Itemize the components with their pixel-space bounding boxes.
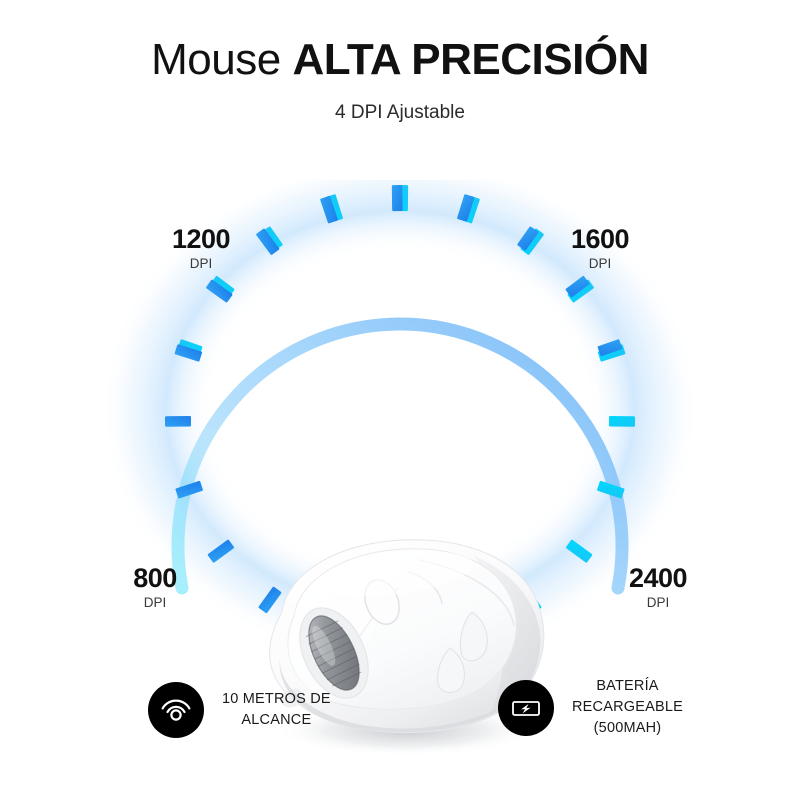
feature-line: (500MAH) [572, 718, 683, 739]
feature-line: RECARGEABLE [572, 697, 683, 718]
feature-list: 10 METROS DE ALCANCE BATERÍA RECARGEABLE… [0, 676, 800, 786]
title-light-part: Mouse [151, 35, 292, 84]
dpi-label-800: 800 DPI [85, 563, 225, 611]
gauge-tick [392, 185, 403, 211]
dpi-value: 1200 [131, 224, 271, 254]
page-title: Mouse ALTA PRECISIÓN [0, 32, 800, 88]
title-bold-part: ALTA PRECISIÓN [292, 35, 648, 84]
dpi-value: 800 [85, 563, 225, 593]
feature-range: 10 METROS DE ALCANCE [148, 682, 331, 738]
dpi-label-1600: 1600 DPI [530, 224, 670, 272]
gauge-tick [609, 416, 635, 427]
wireless-signal-icon [148, 682, 204, 738]
dpi-label-2400: 2400 DPI [588, 563, 728, 611]
feature-line: ALCANCE [222, 710, 331, 731]
battery-charging-icon [498, 680, 554, 736]
dpi-label-1200: 1200 DPI [131, 224, 271, 272]
feature-battery: BATERÍA RECARGEABLE (500MAH) [498, 676, 683, 739]
feature-line: 10 METROS DE [222, 689, 331, 710]
feature-battery-label: BATERÍA RECARGEABLE (500MAH) [572, 676, 683, 739]
dpi-unit: DPI [85, 594, 225, 611]
dpi-unit: DPI [530, 255, 670, 272]
page-subtitle: 4 DPI Ajustable [0, 102, 800, 124]
dpi-gauge: 1200 DPI 1600 DPI 800 DPI 2400 DPI [0, 180, 800, 650]
header: Mouse ALTA PRECISIÓN 4 DPI Ajustable [0, 32, 800, 124]
dpi-unit: DPI [588, 594, 728, 611]
feature-range-label: 10 METROS DE ALCANCE [222, 689, 331, 731]
dpi-value: 2400 [588, 563, 728, 593]
feature-line: BATERÍA [572, 676, 683, 697]
dpi-value: 1600 [530, 224, 670, 254]
dpi-unit: DPI [131, 255, 271, 272]
gauge-tick [165, 416, 191, 427]
